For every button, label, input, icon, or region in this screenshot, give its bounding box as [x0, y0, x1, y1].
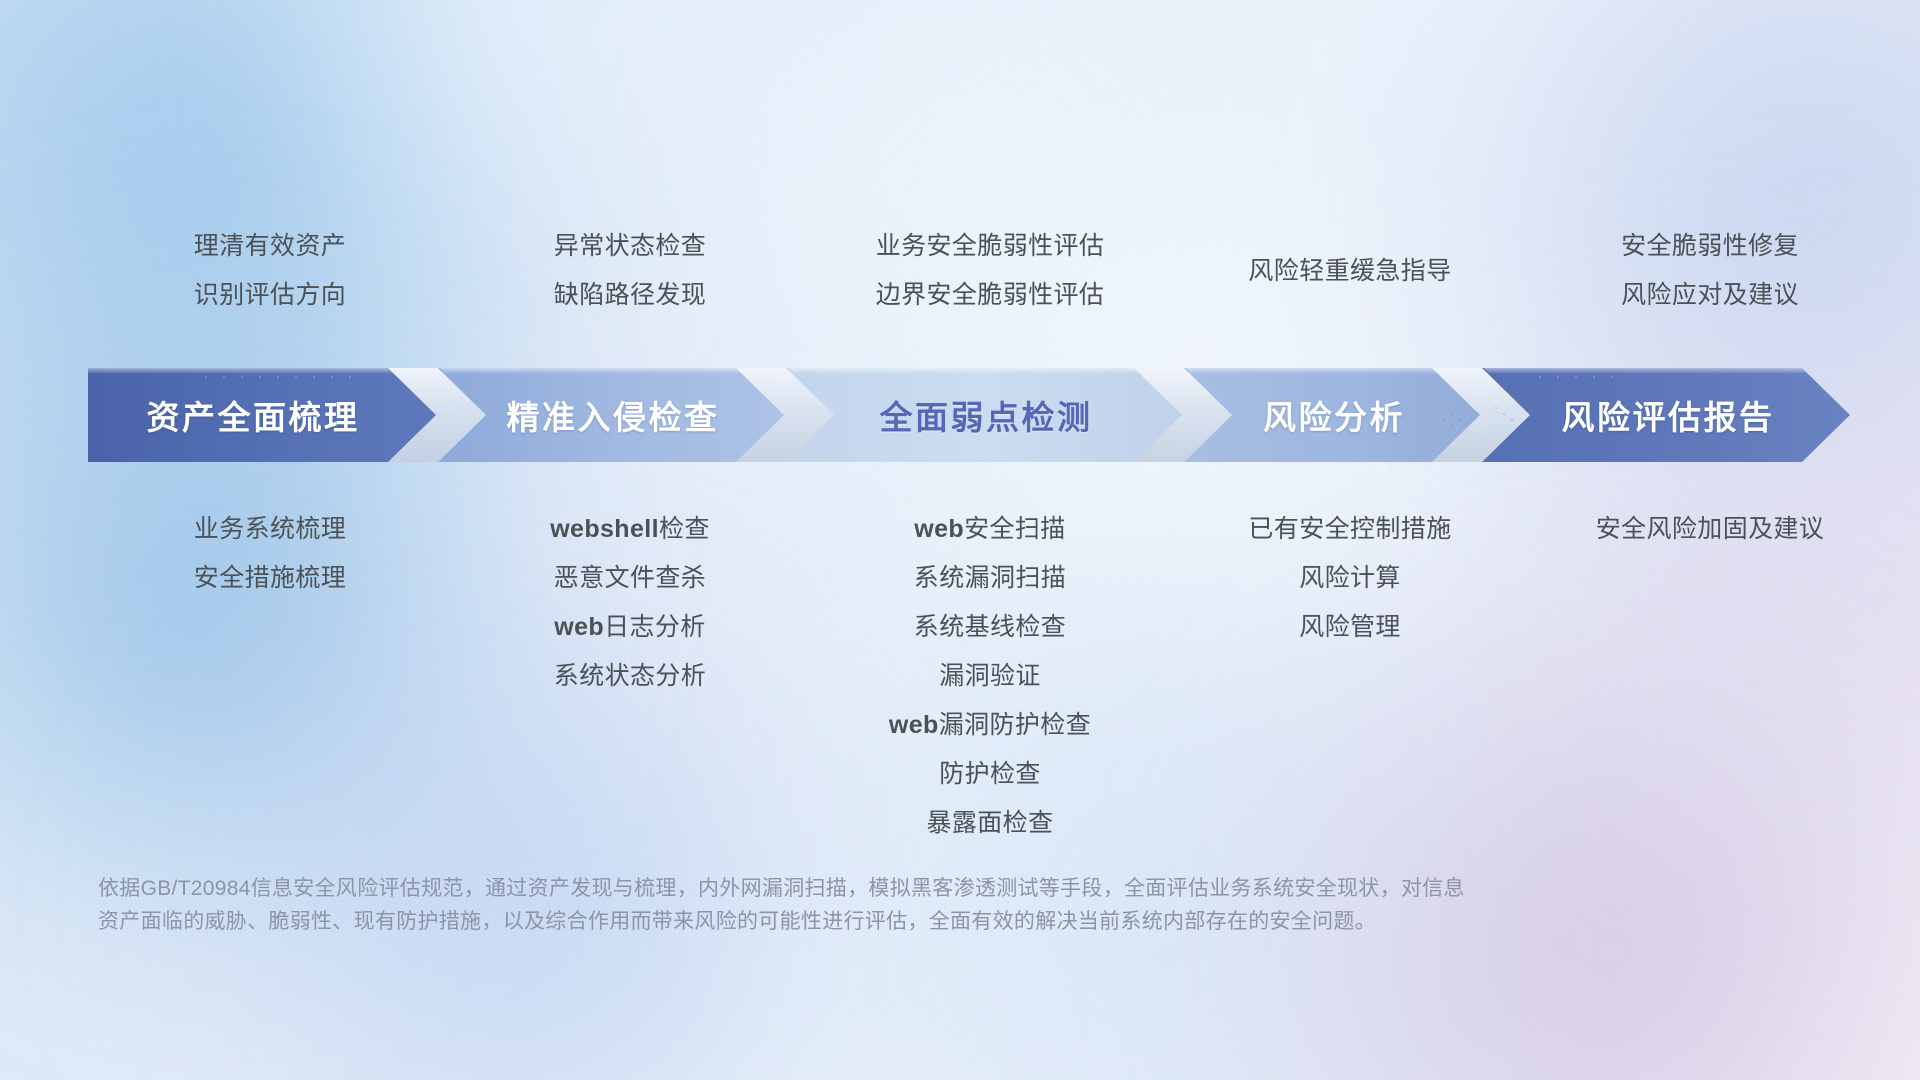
bottom-label-text: 系统基线检查 [914, 613, 1066, 641]
bottom-label: 暴露面检查 [810, 799, 1170, 848]
top-label: 识别评估方向 [90, 271, 450, 320]
top-label: 安全脆弱性修复 [1530, 222, 1890, 271]
top-label: 边界安全脆弱性评估 [810, 271, 1170, 320]
bottom-label-text: 暴露面检查 [926, 809, 1053, 837]
bottom-label-text: 检查 [659, 515, 710, 543]
bottom-label-text: 已有安全控制措施 [1248, 515, 1451, 543]
top-labels-row: 理清有效资产 识别评估方向 异常状态检查 缺陷路径发现 业务安全脆弱性评估 边界… [90, 222, 1890, 320]
top-labels-stage-2: 异常状态检查 缺陷路径发现 [450, 222, 810, 320]
bottom-label: web安全扫描 [810, 505, 1170, 554]
bottom-label-text: 漏洞验证 [939, 662, 1041, 690]
bottom-label: 安全风险加固及建议 [1530, 505, 1890, 554]
bottom-label-text: 安全扫描 [964, 515, 1066, 543]
stage-title-1[interactable]: 资产全面梳理 [88, 368, 418, 462]
footer-line-1: 依据GB/T20984信息安全风险评估规范，通过资产发现与梳理，内外网漏洞扫描，… [98, 872, 1718, 905]
stage-title-5[interactable]: 风险评估报告 [1500, 368, 1836, 462]
bottom-label: web日志分析 [450, 603, 810, 652]
stage-title-3[interactable]: 全面弱点检测 [804, 368, 1168, 462]
top-label: 异常状态检查 [450, 222, 810, 271]
latin-prefix: web [554, 613, 604, 641]
bottom-label-text: 安全措施梳理 [194, 564, 346, 592]
bottom-label-text: 日志分析 [604, 613, 706, 641]
bottom-labels-stage-3: web安全扫描 系统漏洞扫描 系统基线检查 漏洞验证 web漏洞防护检查 防护检… [810, 505, 1170, 848]
bottom-label: 业务系统梳理 [90, 505, 450, 554]
bottom-label: 风险管理 [1170, 603, 1530, 652]
bottom-label: 系统漏洞扫描 [810, 554, 1170, 603]
stage-title-2[interactable]: 精准入侵检查 [456, 368, 770, 462]
top-label: 风险应对及建议 [1530, 271, 1890, 320]
bottom-label: 系统状态分析 [450, 652, 810, 701]
bottom-label-text: 恶意文件查杀 [554, 564, 706, 592]
footer-description: 依据GB/T20984信息安全风险评估规范，通过资产发现与梳理，内外网漏洞扫描，… [98, 872, 1718, 938]
bottom-label: 防护检查 [810, 750, 1170, 799]
bottom-label: webshell检查 [450, 505, 810, 554]
bottom-label-text: 系统状态分析 [554, 662, 706, 690]
top-label: 缺陷路径发现 [450, 271, 810, 320]
bottom-labels-stage-1: 业务系统梳理 安全措施梳理 [90, 505, 450, 603]
stage-title-4[interactable]: 风险分析 [1202, 368, 1466, 462]
latin-prefix: web [889, 711, 939, 739]
top-label: 风险轻重缓急指导 [1170, 222, 1530, 320]
bottom-label-text: 业务系统梳理 [194, 515, 346, 543]
bottom-label: 恶意文件查杀 [450, 554, 810, 603]
top-labels-stage-1: 理清有效资产 识别评估方向 [90, 222, 450, 320]
top-labels-stage-4: 风险轻重缓急指导 [1170, 222, 1530, 320]
bottom-label: 风险计算 [1170, 554, 1530, 603]
footer-line-2: 资产面临的威胁、脆弱性、现有防护措施，以及综合作用而带来风险的可能性进行评估，全… [98, 905, 1718, 938]
process-arrow-band: 资产全面梳理 精准入侵检查 全面弱点检测 风险分析 风险评估报告 [88, 368, 1850, 462]
bottom-label: 漏洞验证 [810, 652, 1170, 701]
bottom-label-text: 风险管理 [1299, 613, 1401, 641]
arrow-band-labels: 资产全面梳理 精准入侵检查 全面弱点检测 风险分析 风险评估报告 [88, 368, 1850, 462]
bottom-label-text: 漏洞防护检查 [939, 711, 1091, 739]
top-labels-stage-5: 安全脆弱性修复 风险应对及建议 [1530, 222, 1890, 320]
bottom-label: web漏洞防护检查 [810, 701, 1170, 750]
bottom-labels-stage-4: 已有安全控制措施 风险计算 风险管理 [1170, 505, 1530, 652]
top-label: 业务安全脆弱性评估 [810, 222, 1170, 271]
bottom-label-text: 安全风险加固及建议 [1596, 515, 1825, 543]
bottom-labels-row: 业务系统梳理 安全措施梳理 webshell检查 恶意文件查杀 web日志分析 … [90, 505, 1890, 848]
top-labels-stage-3: 业务安全脆弱性评估 边界安全脆弱性评估 [810, 222, 1170, 320]
bottom-label-text: 系统漏洞扫描 [914, 564, 1066, 592]
bottom-label: 安全措施梳理 [90, 554, 450, 603]
top-label: 理清有效资产 [90, 222, 450, 271]
bottom-labels-stage-2: webshell检查 恶意文件查杀 web日志分析 系统状态分析 [450, 505, 810, 701]
bottom-label-text: 防护检查 [939, 760, 1041, 788]
latin-prefix: webshell [550, 515, 659, 543]
bottom-label-text: 风险计算 [1299, 564, 1401, 592]
latin-prefix: web [914, 515, 964, 543]
bottom-label: 系统基线检查 [810, 603, 1170, 652]
slide-canvas: 理清有效资产 识别评估方向 异常状态检查 缺陷路径发现 业务安全脆弱性评估 边界… [0, 0, 1920, 1080]
slide-content: 理清有效资产 识别评估方向 异常状态检查 缺陷路径发现 业务安全脆弱性评估 边界… [0, 0, 1920, 1080]
bottom-label: 已有安全控制措施 [1170, 505, 1530, 554]
bottom-labels-stage-5: 安全风险加固及建议 [1530, 505, 1890, 554]
